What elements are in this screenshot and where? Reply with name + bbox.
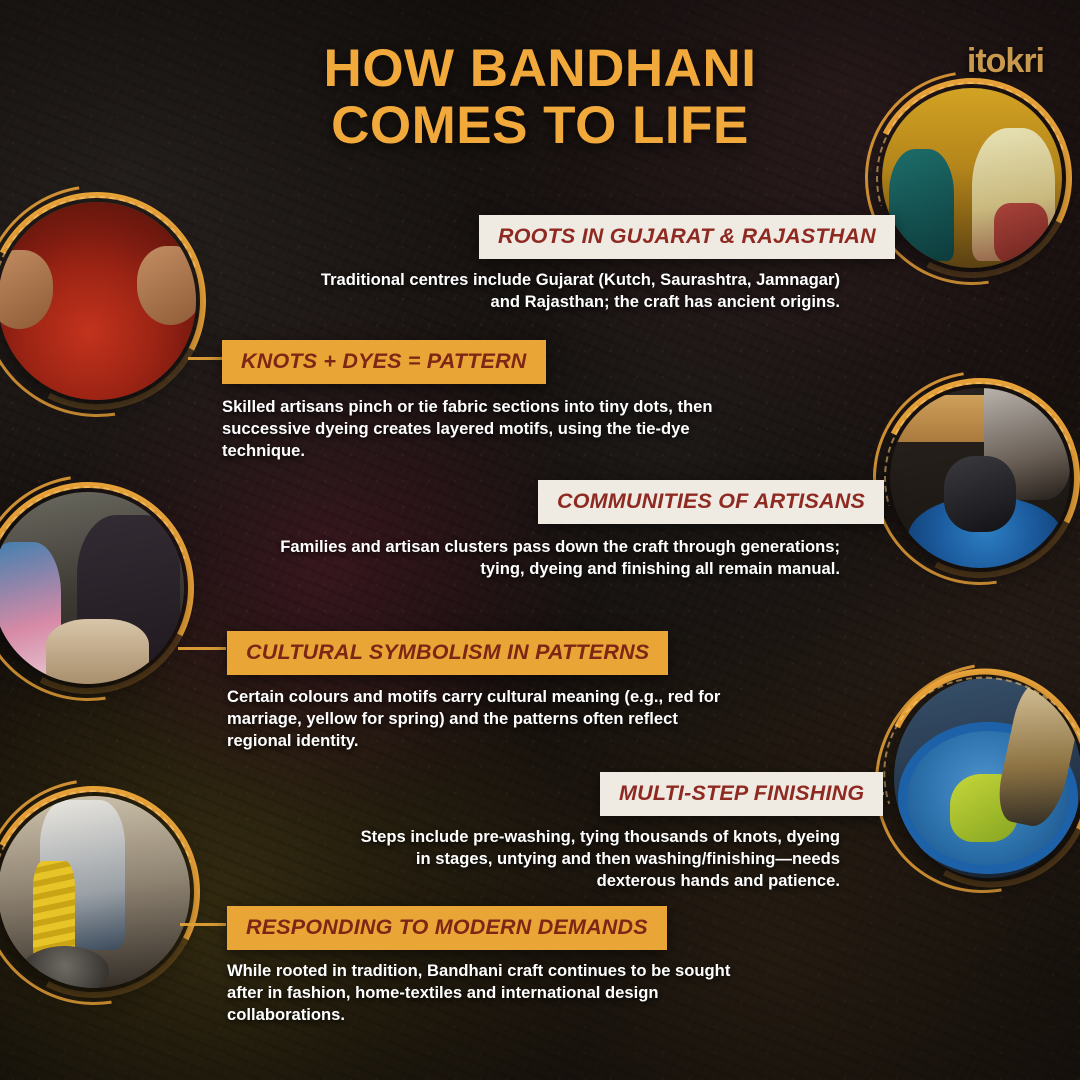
photo-scene — [894, 678, 1080, 878]
brand-logo: itokri — [967, 42, 1044, 81]
photo-scene — [0, 202, 196, 400]
infographic-canvas: HOW BANDHANI COMES TO LIFE itokri — [0, 0, 1080, 1080]
photo-women-tying-yellow-room — [872, 78, 1072, 278]
photo-disc — [894, 678, 1080, 878]
photo-scene — [882, 88, 1062, 268]
photo-dyer-blue-vat — [880, 378, 1080, 578]
section-body-communities-of-artisans: Families and artisan clusters pass down … — [240, 536, 840, 580]
section-body-cultural-symbolism-in-patterns: Certain colours and motifs carry cultura… — [227, 686, 797, 753]
section-body-roots-in-gujarat-rajasthan: Traditional centres include Gujarat (Kut… — [260, 269, 840, 313]
section-body-knots-dyes-pattern: Skilled artisans pinch or tie fabric sec… — [222, 396, 782, 463]
photo-disc — [0, 492, 184, 684]
section-heading-cultural-symbolism-in-patterns: CULTURAL SYMBOLISM IN PATTERNS — [227, 631, 668, 675]
photo-disc — [890, 388, 1070, 568]
section-heading-multi-step-finishing: MULTI-STEP FINISHING — [600, 772, 883, 816]
section-heading-roots-in-gujarat-rajasthan: ROOTS IN GUJARAT & RAJASTHAN — [479, 215, 895, 259]
photo-scene — [890, 388, 1070, 568]
photo-disc — [0, 796, 190, 988]
section-heading-responding-to-modern-demands: RESPONDING TO MODERN DEMANDS — [227, 906, 667, 950]
connector-line-4 — [178, 647, 226, 650]
photo-disc — [882, 88, 1062, 268]
photo-dyer-yellow-hank — [0, 786, 200, 998]
photo-women-tying-outdoors — [0, 482, 194, 694]
brand-logo-text: itokri — [967, 42, 1044, 81]
section-heading-knots-dyes-pattern: KNOTS + DYES = PATTERN — [222, 340, 546, 384]
section-heading-communities-of-artisans: COMMUNITIES OF ARTISANS — [538, 480, 884, 524]
photo-blue-dye-bath — [884, 668, 1080, 888]
photo-hands-tying-red-fabric — [0, 192, 206, 410]
photo-disc — [0, 202, 196, 400]
section-body-multi-step-finishing: Steps include pre-washing, tying thousan… — [300, 826, 840, 893]
connector-line-6 — [180, 923, 226, 926]
photo-scene — [0, 796, 190, 988]
section-body-responding-to-modern-demands: While rooted in tradition, Bandhani craf… — [227, 960, 807, 1027]
photo-scene — [0, 492, 184, 684]
